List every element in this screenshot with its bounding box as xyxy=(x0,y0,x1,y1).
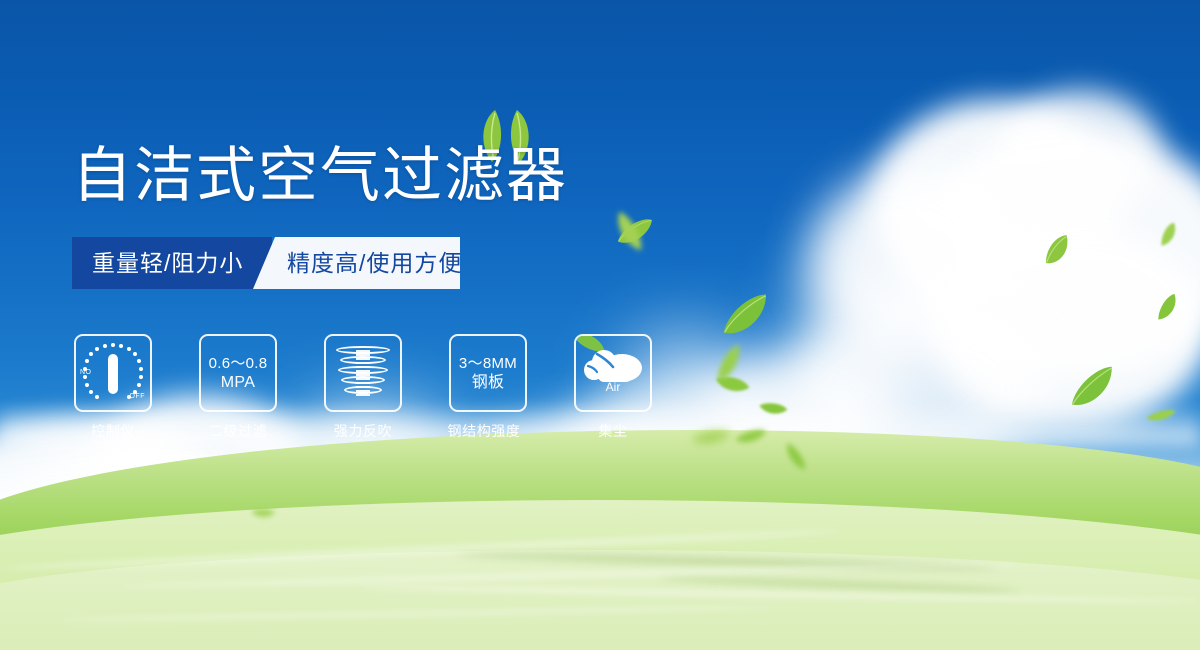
pressure-line-2: MPA xyxy=(209,373,268,392)
dial-label-off: OFF xyxy=(130,393,146,400)
dial-needle xyxy=(108,354,118,394)
feature-caption: 强力反吹 xyxy=(322,421,404,441)
air-label: Air xyxy=(580,380,646,394)
feature-icon-box: NO OFF xyxy=(74,334,152,412)
pressure-text-icon: 0.6～0.8 MPA xyxy=(209,354,268,392)
feature-caption: 二级过滤 xyxy=(197,421,279,441)
feature-item-backblow[interactable]: 强力反吹 xyxy=(322,334,404,441)
feature-item-dust-collection[interactable]: Air 集尘 xyxy=(572,334,654,441)
gauge-dial-icon: NO OFF xyxy=(81,342,145,404)
subtitle-text-left: 重量轻/阻力小 xyxy=(92,237,243,289)
feature-item-controller[interactable]: NO OFF 控制仪 xyxy=(72,334,154,441)
steel-line-1: 3～8MM xyxy=(459,354,517,373)
banner-content: 自洁式空气过滤器 重量轻/阻力小 精度高/使用方便 xyxy=(0,0,1200,650)
feature-icon-box: 3～8MM 钢板 xyxy=(449,334,527,412)
feature-icon-box: Air xyxy=(574,334,652,412)
filter-stack-icon xyxy=(335,344,391,402)
feature-caption: 控制仪 xyxy=(72,421,154,441)
feature-item-secondary-filter[interactable]: 0.6～0.8 MPA 二级过滤 xyxy=(197,334,279,441)
feature-icon-box: 0.6～0.8 MPA xyxy=(199,334,277,412)
dial-label-no: NO xyxy=(80,369,92,376)
page-title: 自洁式空气过滤器 xyxy=(72,144,568,208)
feature-caption: 钢结构强度 xyxy=(439,421,529,441)
steel-line-2: 钢板 xyxy=(459,373,517,392)
feature-list: NO OFF 控制仪 0.6～0.8 MPA 二级过滤 xyxy=(72,334,712,444)
feature-item-steel-strength[interactable]: 3～8MM 钢板 钢结构强度 xyxy=(447,334,529,441)
steel-plate-text-icon: 3～8MM 钢板 xyxy=(459,354,517,392)
product-hero-banner: 自洁式空气过滤器 重量轻/阻力小 精度高/使用方便 xyxy=(0,0,1200,650)
feature-caption: 集尘 xyxy=(572,421,654,441)
subtitle-bar: 重量轻/阻力小 精度高/使用方便 xyxy=(72,237,460,289)
pressure-line-1: 0.6～0.8 xyxy=(209,354,268,373)
cloud-air-icon: Air xyxy=(580,344,646,402)
subtitle-text-right: 精度高/使用方便 xyxy=(287,237,462,289)
feature-icon-box xyxy=(324,334,402,412)
